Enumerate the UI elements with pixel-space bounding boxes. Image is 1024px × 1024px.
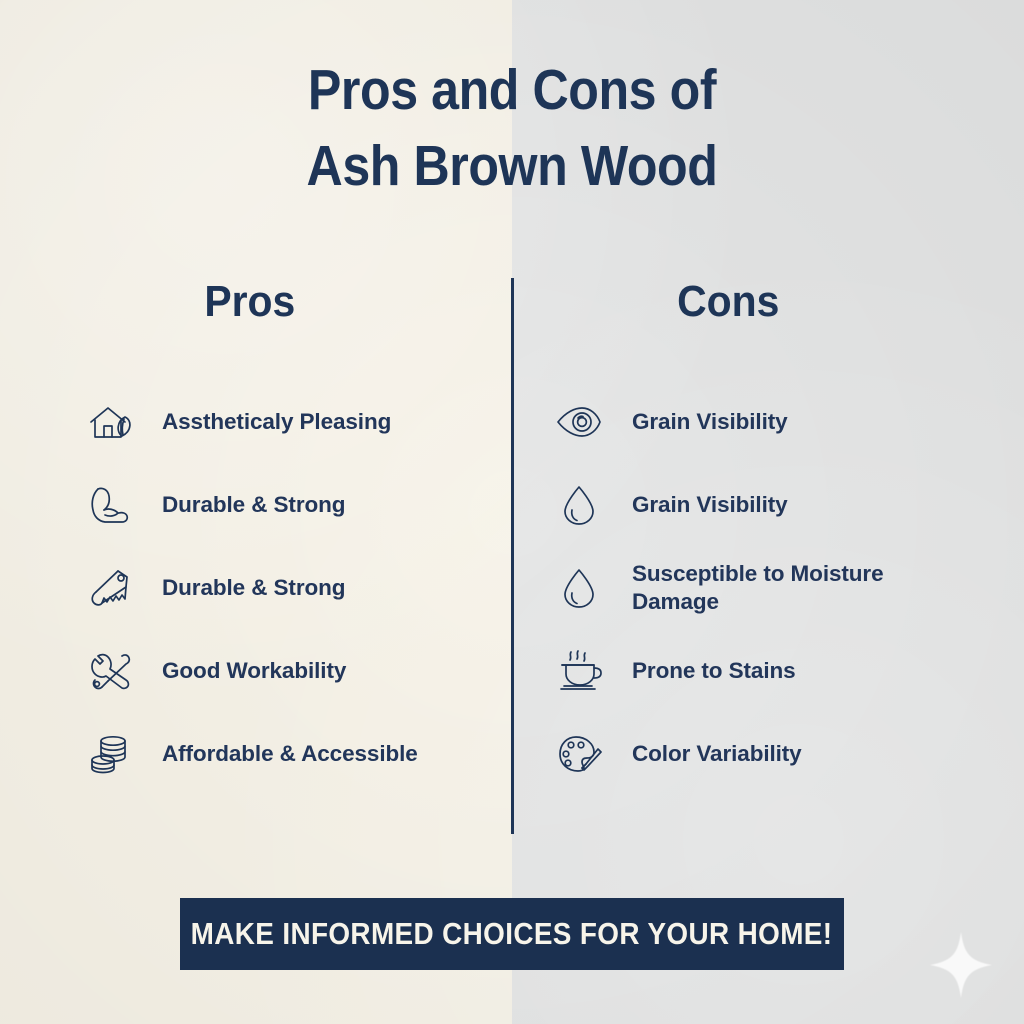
handsaw-icon <box>80 562 138 614</box>
list-item: Color Variability <box>532 712 984 795</box>
list-item-label: Prone to Stains <box>632 657 796 685</box>
list-item: Susceptible to Moisture Damage <box>532 546 984 629</box>
list-item-label: Grain Visibility <box>632 491 788 519</box>
list-item: Grain Visibility <box>532 463 984 546</box>
cons-column: Cons Grain Visibility <box>532 276 984 795</box>
page-title: Pros and Cons of Ash Brown Wood <box>61 52 962 204</box>
sparkle-icon <box>928 930 994 1000</box>
list-item-label: Durable & Strong <box>162 574 345 602</box>
list-item: Prone to Stains <box>532 629 984 712</box>
eye-icon <box>550 396 608 448</box>
list-item: Asstheticaly Pleasing <box>48 380 500 463</box>
list-item: Grain Visibility <box>532 380 984 463</box>
list-item-label: Affordable & Accessible <box>162 740 418 768</box>
cta-text: MAKE INFORMED CHOICES FOR YOUR HOME! <box>191 916 833 952</box>
list-item: Durable & Strong <box>48 546 500 629</box>
list-item-label: Susceptible to Moisture Damage <box>632 560 932 616</box>
list-item-label: Durable & Strong <box>162 491 345 519</box>
infographic-poster: Pros and Cons of Ash Brown Wood Pros Ass… <box>0 0 1024 1024</box>
flexed-bicep-icon <box>80 479 138 531</box>
wrench-screwdriver-icon <box>80 645 138 697</box>
water-drop-icon <box>550 562 608 614</box>
list-item: Good Workability <box>48 629 500 712</box>
list-item-label: Asstheticaly Pleasing <box>162 408 391 436</box>
pros-column: Pros Asstheticaly Pleasing <box>48 276 500 795</box>
palette-brush-icon <box>550 728 608 780</box>
cons-heading: Cons <box>548 276 968 328</box>
column-divider <box>511 278 514 834</box>
house-leaf-icon <box>80 396 138 448</box>
list-item-label: Grain Visibility <box>632 408 788 436</box>
title-line-1: Pros and Cons of <box>308 58 716 122</box>
water-drop-icon <box>550 479 608 531</box>
list-item-label: Good Workability <box>162 657 346 685</box>
title-line-2: Ash Brown Wood <box>307 134 718 198</box>
list-item: Affordable & Accessible <box>48 712 500 795</box>
cons-list: Grain Visibility Grain Visibility <box>532 380 984 795</box>
list-item: Durable & Strong <box>48 463 500 546</box>
steaming-cup-icon <box>550 645 608 697</box>
cta-banner: MAKE INFORMED CHOICES FOR YOUR HOME! <box>180 898 844 970</box>
coin-stack-icon <box>80 728 138 780</box>
pros-heading: Pros <box>64 276 484 328</box>
pros-list: Asstheticaly Pleasing Durable & Strong <box>48 380 500 795</box>
list-item-label: Color Variability <box>632 740 802 768</box>
